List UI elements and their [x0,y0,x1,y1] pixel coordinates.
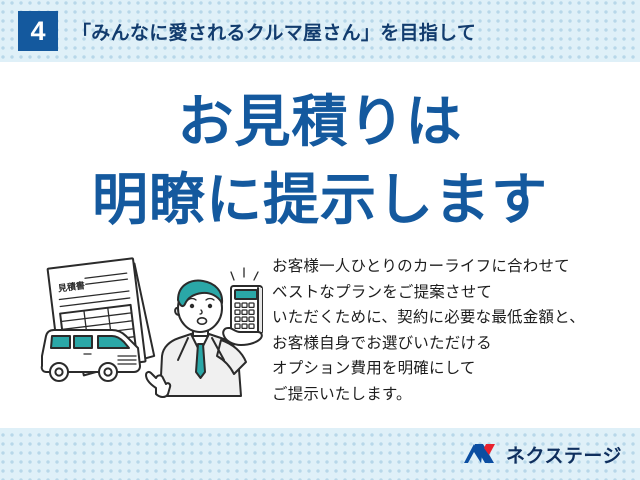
calculator-illustration [223,268,262,345]
body-copy: お客様一人ひとりのカーライフに合わせて ベストなプランをご提案させて いただくた… [272,254,632,407]
brand-name-text: ネクステージ [506,441,622,468]
body-line: いただくために、契約に必要な最低金額と、 [272,305,632,331]
body-line: お客様一人ひとりのカーライフに合わせて [272,254,632,280]
eye-left [190,304,194,308]
content-card: お見積りは 明瞭に提示します お客様一人ひとりのカーライフに合わせて ベストなプ… [0,62,640,428]
body-line: ベストなプランをご提案させて [272,280,632,306]
headline-line-2: 明瞭に提示します [0,172,640,228]
sparkle-icon [231,268,258,280]
body-line: お客様自身でお選びいただける [272,331,632,357]
header-content: 4 「みんなに愛されるクルマ屋さん」を目指して [18,10,476,52]
headline-line-1: お見積りは [0,94,640,150]
nexstage-n-mark-icon [463,442,497,466]
eye-right [208,304,212,308]
body-line: オプション費用を明確にして [272,356,632,382]
body-line: ご提示いたします。 [272,382,632,408]
illustration-svg: .ol { fill:#ffffff; stroke:#2b2b2b; stro… [28,248,278,414]
header-title: 「みんなに愛されるクルマ屋さん」を目指して [72,18,476,45]
sales-staff-illustration: .ol { fill:#ffffff; stroke:#2b2b2b; stro… [28,248,278,414]
step-number-badge: 4 [18,11,58,51]
brand-logo: ネクステージ [463,440,622,468]
header-bar: 4 「みんなに愛されるクルマ屋さん」を目指して [0,0,640,62]
promo-slide: 4 「みんなに愛されるクルマ屋さん」を目指して お見積りは 明瞭に提示します お… [0,0,640,480]
